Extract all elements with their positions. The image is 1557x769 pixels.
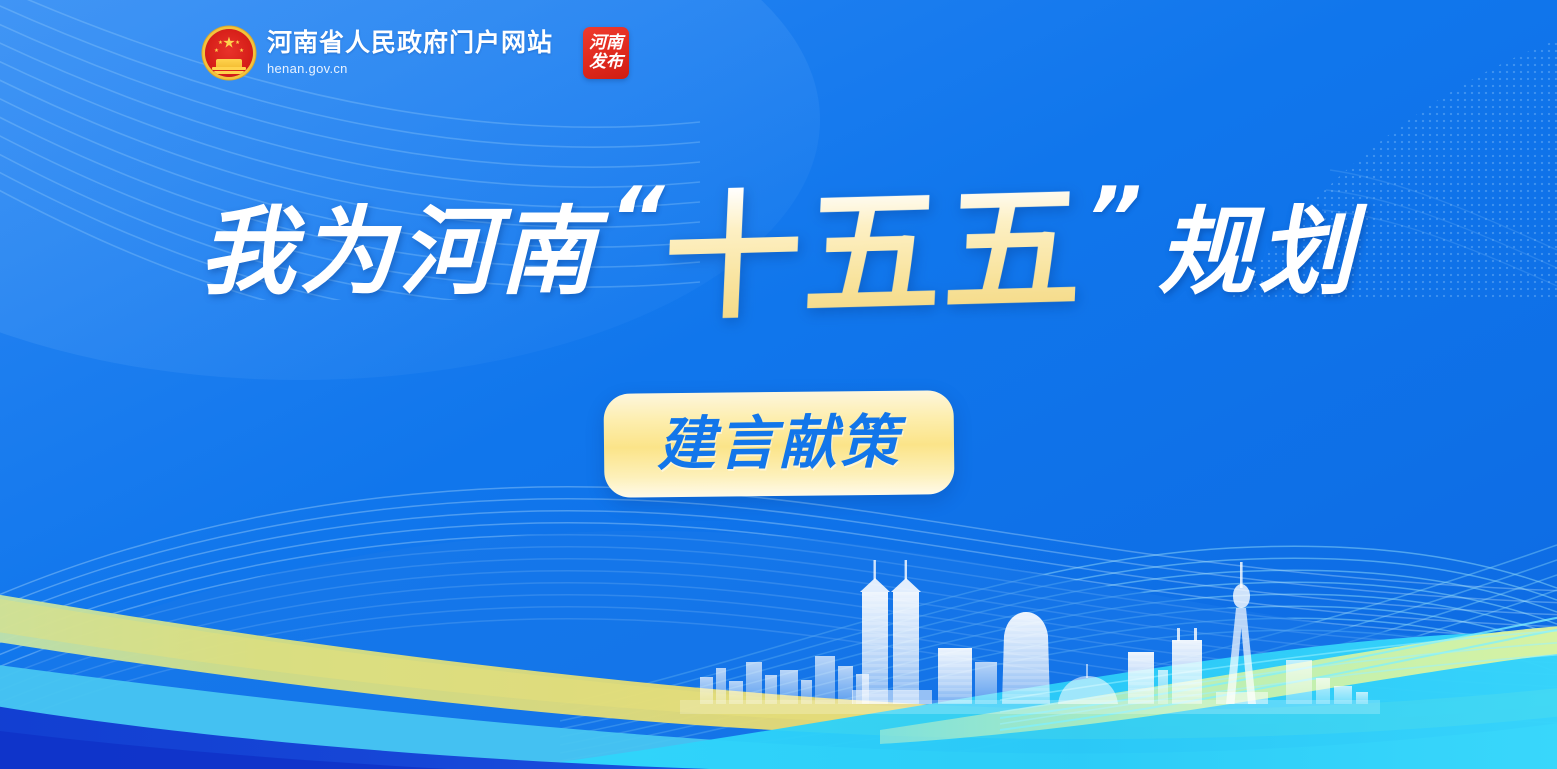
emblem-small-star-2: ★ xyxy=(214,49,219,55)
site-header[interactable]: ★ ★ ★ ★ ★ 河南省人民政府门户网站 henan.gov.cn 河南 发布 xyxy=(205,27,629,79)
china-national-emblem-icon: ★ ★ ★ ★ ★ xyxy=(205,29,253,77)
emblem-tiananmen-gate xyxy=(216,59,242,70)
emblem-small-star-1: ★ xyxy=(218,41,223,47)
background-decoration xyxy=(0,0,1557,769)
cta-container: 建言献策 xyxy=(0,392,1557,496)
suggestion-cta-button[interactable]: 建言献策 xyxy=(603,390,954,498)
banner-stage: ★ ★ ★ ★ ★ 河南省人民政府门户网站 henan.gov.cn 河南 发布… xyxy=(0,0,1557,769)
henan-release-badge[interactable]: 河南 发布 xyxy=(583,27,629,79)
cta-button-label: 建言献策 xyxy=(656,414,901,475)
site-name: 河南省人民政府门户网站 xyxy=(267,29,553,58)
emblem-small-star-3: ★ xyxy=(235,41,240,47)
release-badge-line2: 发布 xyxy=(589,53,623,72)
emblem-small-star-4: ★ xyxy=(239,49,244,55)
site-identity: 河南省人民政府门户网站 henan.gov.cn xyxy=(267,29,553,76)
release-badge-line1: 河南 xyxy=(589,34,623,53)
site-url: henan.gov.cn xyxy=(267,61,553,77)
emblem-main-star: ★ xyxy=(222,36,235,51)
emblem-base xyxy=(214,71,244,74)
